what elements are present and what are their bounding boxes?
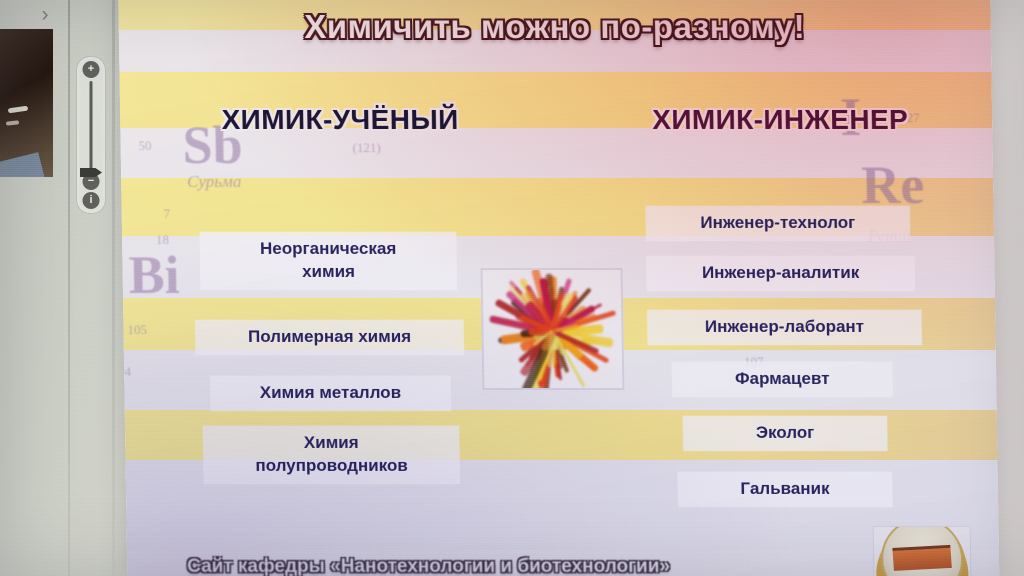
list-item: Инженер-лаборант xyxy=(647,310,922,345)
column-heading-engineer: ХИМИК-ИНЖЕНЕР xyxy=(590,104,971,136)
wall-seam xyxy=(68,0,70,576)
list-item: Химияполупроводников xyxy=(203,426,460,484)
bg-element-symbol: Bi xyxy=(128,244,180,306)
presentation-slide: 50 Sb (121) Сурьма 7 18 Bi 105 94 Re Рен… xyxy=(118,0,1000,576)
zoom-out-button[interactable]: − xyxy=(83,173,100,190)
thumbnail-preview[interactable] xyxy=(0,29,53,177)
university-emblem xyxy=(873,526,972,576)
zoom-in-button[interactable]: + xyxy=(83,61,100,78)
info-button[interactable]: i xyxy=(83,192,100,209)
zoom-slider-track[interactable] xyxy=(90,81,93,169)
list-item: Неорганическаяхимия xyxy=(200,232,457,290)
bg-element-number: 105 xyxy=(127,322,147,338)
wall-seam-secondary xyxy=(112,0,115,576)
colour-splash-image xyxy=(481,268,625,390)
column-heading-scientist: ХИМИК-УЧЁНЫЙ xyxy=(160,104,521,136)
splash-graphic xyxy=(483,270,623,388)
list-item: Инженер-аналитик xyxy=(646,256,915,291)
bg-element-number: 7 xyxy=(163,206,170,222)
list-item: Эколог xyxy=(683,416,888,451)
list-item: Полимерная химия xyxy=(195,320,464,355)
bg-element-mass: (121) xyxy=(352,140,380,156)
next-arrow-icon[interactable]: › xyxy=(34,2,56,28)
list-item: Инженер-технолог xyxy=(646,206,911,241)
projected-slide-photo: 50 Sb (121) Сурьма 7 18 Bi 105 94 Re Рен… xyxy=(0,0,1024,576)
slide-title: Химичить можно по-разному! xyxy=(118,8,991,46)
list-item: Фармацевт xyxy=(672,362,893,397)
bg-element-number: 50 xyxy=(138,138,151,154)
zoom-slider-control[interactable]: + − i xyxy=(76,56,106,214)
list-item: Гальваник xyxy=(678,472,893,507)
bg-element-name: Сурьма xyxy=(187,172,242,192)
slide-footer: Сайт кафедры «Нанотехнологии и биотехнол… xyxy=(187,556,887,576)
list-item: Химия металлов xyxy=(210,376,451,411)
